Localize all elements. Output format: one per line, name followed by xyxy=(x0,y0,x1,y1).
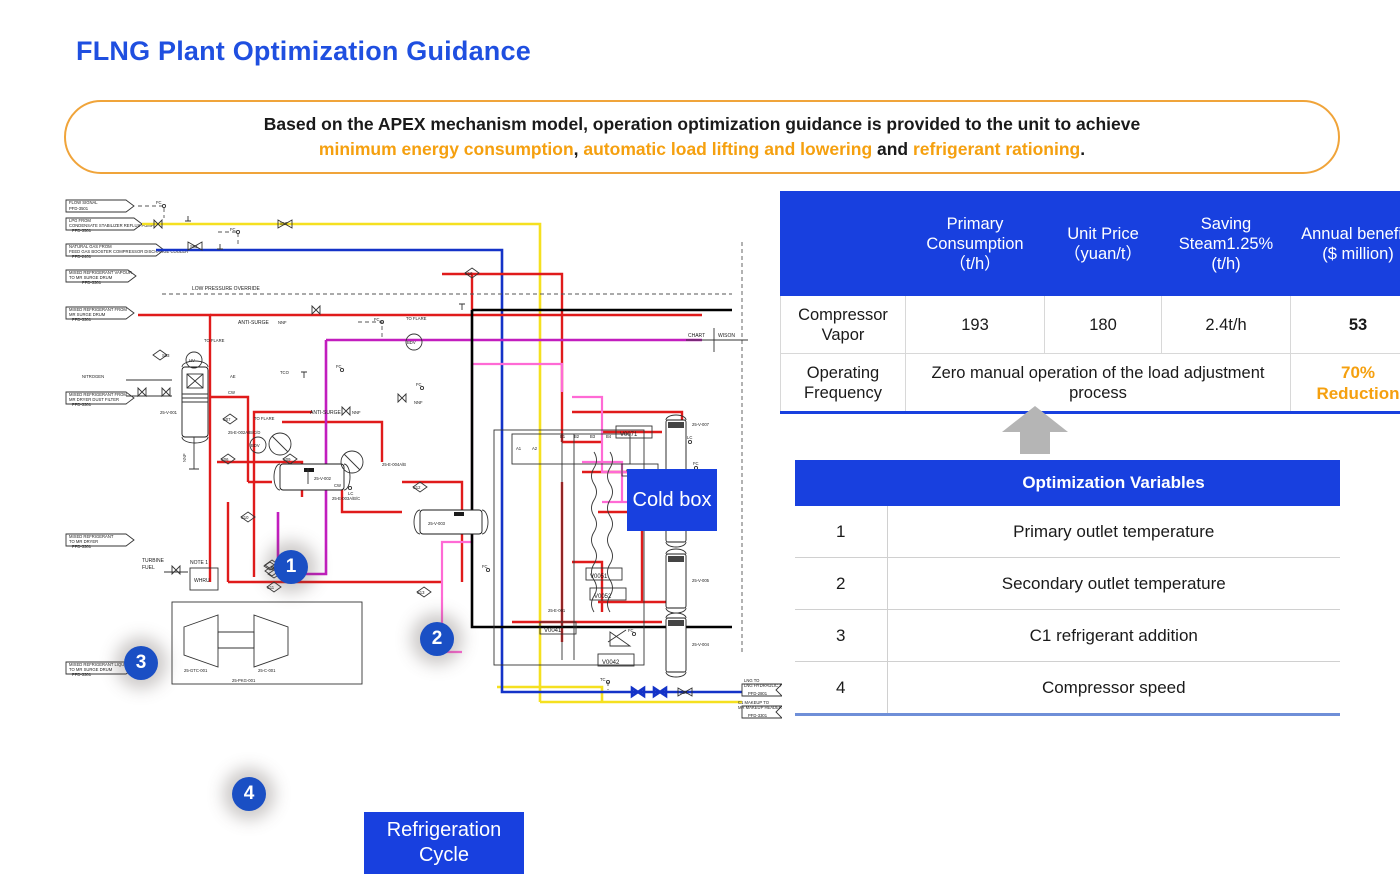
svg-text:FC: FC xyxy=(416,382,422,387)
benefits-header-annual-benefits: Annual benefits ($ million) xyxy=(1291,192,1400,296)
svg-text:FC: FC xyxy=(628,628,634,633)
svg-text:25-V-007: 25-V-007 xyxy=(692,422,710,427)
benefits-header-saving-steam: Saving Steam1.25% (t/h) xyxy=(1162,192,1291,296)
vars-label-2: Secondary outlet temperature xyxy=(887,558,1340,610)
svg-text:BDV: BDV xyxy=(407,340,416,345)
svg-text:TCO: TCO xyxy=(280,370,290,375)
vars-row-3: 3 C1 refrigerant addition xyxy=(795,610,1340,662)
svg-text:V0051: V0051 xyxy=(590,574,608,580)
svg-text:CW: CW xyxy=(334,483,341,488)
svg-text:PFD-2401: PFD-2401 xyxy=(72,254,92,259)
svg-text:FUEL: FUEL xyxy=(142,565,155,571)
svg-text:BDV: BDV xyxy=(251,443,260,448)
svg-text:FC: FC xyxy=(230,227,236,232)
svg-text:NNF: NNF xyxy=(414,400,423,405)
svg-text:B3: B3 xyxy=(590,434,596,439)
svg-text:NOTE 1: NOTE 1 xyxy=(190,560,208,566)
svg-text:ANTI-SURGE: ANTI-SURGE xyxy=(238,320,270,326)
svg-text:PFD-3301: PFD-3301 xyxy=(72,544,92,549)
reduction-word: Reduction xyxy=(1294,383,1400,404)
svg-text:V0071: V0071 xyxy=(620,432,638,438)
diagram-marker-3[interactable]: 3 xyxy=(124,646,158,680)
separator-vessels: 25-V-007 LC FC 25-V-006 25-V-005 25-V xyxy=(666,415,710,677)
banner-highlight-load: automatic load lifting and lowering xyxy=(583,139,872,159)
svg-text:FC: FC xyxy=(482,564,488,569)
svg-text:TO FLARE: TO FLARE xyxy=(204,338,225,343)
benefits-header-unit-price: Unit Price （yuan/t） xyxy=(1045,192,1162,296)
vars-row-2: 2 Secondary outlet temperature xyxy=(795,558,1340,610)
svg-text:S06: S06 xyxy=(221,457,229,462)
svg-text:FC: FC xyxy=(693,461,699,466)
svg-text:WHRU: WHRU xyxy=(194,578,210,584)
refrigeration-cycle-label: Refrigeration Cycle xyxy=(364,812,524,874)
connector-flags-left: FLOW SIGNALPFD-3501 LPG FROMCONDENSATE S… xyxy=(66,200,188,677)
mixed-refrigerant-red-lines: S03 S07 S06 S09 S10 S12 S11 S13 S16 25-E… xyxy=(138,268,702,642)
svg-text:PFD-3301: PFD-3301 xyxy=(72,402,92,407)
compressor-package: 25-GTC-001 25-C-001 25-PKG-001 WHRU NOTE… xyxy=(142,558,362,684)
benefits-row-label-compressor-vapor: Compressor Vapor xyxy=(781,296,906,354)
instrument-bubbles: FC FC FC FC xyxy=(301,304,636,636)
benefits-cell-annual-benefits: 53 xyxy=(1291,296,1400,354)
benefits-row-operating-frequency: Operating Frequency Zero manual operatio… xyxy=(781,354,1400,413)
svg-text:25-E-003A/B/C: 25-E-003A/B/C xyxy=(332,496,360,501)
pid-diagram: .ln{fill:none;stroke:#1a1a1a;stroke-widt… xyxy=(42,182,782,722)
benefits-cell-unit-price: 180 xyxy=(1045,296,1162,354)
svg-text:MR MAKEUP HEADER: MR MAKEUP HEADER xyxy=(738,705,782,710)
svg-text:PFD-3301: PFD-3301 xyxy=(748,713,768,718)
svg-text:WISON: WISON xyxy=(718,333,735,339)
banner-text-1: Based on the APEX mechanism model, opera… xyxy=(264,114,1140,134)
benefits-header-primary-consumption: Primary Consumption （t/h） xyxy=(906,192,1045,296)
svg-text:FC: FC xyxy=(374,317,380,322)
svg-text:S02: S02 xyxy=(190,244,198,249)
svg-text:25-V-004: 25-V-004 xyxy=(692,642,710,647)
svg-text:25-C-001: 25-C-001 xyxy=(258,668,276,673)
svg-text:S16: S16 xyxy=(465,271,473,276)
banner-sep-2: and xyxy=(872,139,913,159)
vars-header-index xyxy=(795,460,887,506)
svg-text:B2: B2 xyxy=(574,434,580,439)
svg-text:TO FLARE: TO FLARE xyxy=(406,316,427,321)
cold-box-label: Cold box xyxy=(627,469,717,531)
svg-text:FC: FC xyxy=(336,364,342,369)
svg-text:PFD-3301: PFD-3301 xyxy=(82,280,102,285)
svg-text:25-V-005: 25-V-005 xyxy=(692,578,710,583)
svg-text:25-E-002A/B/C/D: 25-E-002A/B/C/D xyxy=(228,430,260,435)
pid-schematic: .ln{fill:none;stroke:#1a1a1a;stroke-widt… xyxy=(42,182,782,722)
banner-sep-1: , xyxy=(574,139,584,159)
vars-label-3: C1 refrigerant addition xyxy=(887,610,1340,662)
benefits-table: Primary Consumption （t/h） Unit Price （yu… xyxy=(780,191,1400,414)
diagram-marker-1[interactable]: 1 xyxy=(274,550,308,584)
svg-text:S11: S11 xyxy=(267,585,275,590)
svg-text:FC: FC xyxy=(156,200,162,205)
svg-text:ANTI-SURGE: ANTI-SURGE xyxy=(310,410,342,416)
svg-text:V0052: V0052 xyxy=(594,594,612,600)
benefits-header-corner xyxy=(781,192,906,296)
svg-text:A1: A1 xyxy=(516,446,522,451)
svg-text:PFD-3301: PFD-3301 xyxy=(72,672,92,677)
svg-text:CW: CW xyxy=(228,390,235,395)
vars-row-4: 4 Compressor speed xyxy=(795,662,1340,715)
svg-text:S13: S13 xyxy=(417,590,425,595)
svg-text:TC: TC xyxy=(600,677,606,682)
benefits-row-compressor-vapor: Compressor Vapor 193 180 2.4t/h 53 xyxy=(781,296,1400,354)
svg-text:LC: LC xyxy=(348,491,353,496)
svg-text:25-PKG-001: 25-PKG-001 xyxy=(232,678,256,683)
svg-text:LOW PRESSURE OVERRIDE: LOW PRESSURE OVERRIDE xyxy=(192,286,260,292)
up-arrow-icon xyxy=(1000,404,1070,461)
svg-text:NNF: NNF xyxy=(278,320,287,325)
vessel-25-V-003: 25-V-003 xyxy=(414,510,488,534)
svg-text:S07: S07 xyxy=(223,417,231,422)
svg-text:S12: S12 xyxy=(413,485,421,490)
svg-text:PFD-3501: PFD-3501 xyxy=(72,228,92,233)
svg-text:TO FLARE: TO FLARE xyxy=(254,416,275,421)
banner-line-1: Based on the APEX mechanism model, opera… xyxy=(264,112,1140,137)
banner-period: . xyxy=(1080,139,1085,159)
vars-label-4: Compressor speed xyxy=(887,662,1340,715)
banner-highlight-refrigerant: refrigerant rationing xyxy=(913,139,1080,159)
summary-banner: Based on the APEX mechanism model, opera… xyxy=(64,100,1340,174)
svg-text:S14: S14 xyxy=(680,690,688,695)
banner-line-2: minimum energy consumption, automatic lo… xyxy=(319,137,1085,162)
benefits-cell-primary-consumption: 193 xyxy=(906,296,1045,354)
svg-text:S09: S09 xyxy=(283,457,291,462)
svg-text:LNG HYDRAULIC TURBINE: LNG HYDRAULIC TURBINE xyxy=(744,683,782,688)
benefits-cell-reduction: 70% Reduction xyxy=(1291,354,1400,413)
page-title: FLNG Plant Optimization Guidance xyxy=(76,36,531,67)
svg-text:S10: S10 xyxy=(241,515,249,520)
optimization-variables-table: Optimization Variables 1 Primary outlet … xyxy=(795,460,1340,716)
svg-text:NNF: NNF xyxy=(352,410,361,415)
svg-text:25-V-003: 25-V-003 xyxy=(428,521,446,526)
svg-text:HV: HV xyxy=(189,358,195,363)
vars-label-1: Primary outlet temperature xyxy=(887,506,1340,558)
svg-text:25-V-002: 25-V-002 xyxy=(314,476,332,481)
svg-text:25-E-004A/B: 25-E-004A/B xyxy=(382,462,406,467)
svg-text:NNF: NNF xyxy=(182,453,187,462)
magenta-line: FC xyxy=(278,317,702,574)
svg-text:25-V-001: 25-V-001 xyxy=(160,410,178,415)
vars-header-row: Optimization Variables xyxy=(795,460,1340,506)
svg-text:V0041: V0041 xyxy=(544,628,562,634)
svg-text:S03: S03 xyxy=(162,353,170,358)
svg-text:S15: S15 xyxy=(280,221,288,226)
svg-text:A2: A2 xyxy=(532,446,538,451)
svg-text:25-E-001: 25-E-001 xyxy=(548,608,566,613)
svg-text:B4: B4 xyxy=(606,434,612,439)
benefits-cell-saving-steam: 2.4t/h xyxy=(1162,296,1291,354)
banner-highlight-energy: minimum energy consumption xyxy=(319,139,574,159)
benefits-cell-merged-note: Zero manual operation of the load adjust… xyxy=(906,354,1291,413)
connector-flags-right: LNG TOLNG HYDRAULIC TURBINEPFD-2801 C1 M… xyxy=(738,678,782,718)
benefits-row-label-operating-frequency: Operating Frequency xyxy=(781,354,906,413)
svg-text:PFD-3501: PFD-3501 xyxy=(69,206,89,211)
svg-text:V0042: V0042 xyxy=(602,660,620,666)
vars-index-3: 3 xyxy=(795,610,887,662)
svg-text:NITROGEN: NITROGEN xyxy=(82,374,104,379)
svg-text:AE: AE xyxy=(230,374,236,379)
reduction-percent: 70% xyxy=(1294,362,1400,383)
svg-text:25-GTC-001: 25-GTC-001 xyxy=(184,668,208,673)
svg-text:CHART: CHART xyxy=(688,333,705,339)
svg-text:PFD-3301: PFD-3301 xyxy=(72,317,92,322)
chart-wison-label: CHART WISON xyxy=(686,328,748,352)
svg-text:FLOW SIGNAL: FLOW SIGNAL xyxy=(69,200,98,205)
vars-index-4: 4 xyxy=(795,662,887,715)
vars-header-title: Optimization Variables xyxy=(887,460,1340,506)
svg-text:B1: B1 xyxy=(560,434,566,439)
vars-index-2: 2 xyxy=(795,558,887,610)
vessel-25-V-001: 25-V-001 NNF NITROGEN xyxy=(82,361,208,469)
svg-text:TURBINE: TURBINE xyxy=(142,558,165,564)
benefits-header-row: Primary Consumption （t/h） Unit Price （yu… xyxy=(781,192,1400,296)
diagram-marker-4[interactable]: 4 xyxy=(232,777,266,811)
vars-row-1: 1 Primary outlet temperature xyxy=(795,506,1340,558)
svg-text:LC: LC xyxy=(687,435,692,440)
svg-text:PFD-2801: PFD-2801 xyxy=(748,691,768,696)
diagram-marker-2[interactable]: 2 xyxy=(420,622,454,656)
vars-index-1: 1 xyxy=(795,506,887,558)
